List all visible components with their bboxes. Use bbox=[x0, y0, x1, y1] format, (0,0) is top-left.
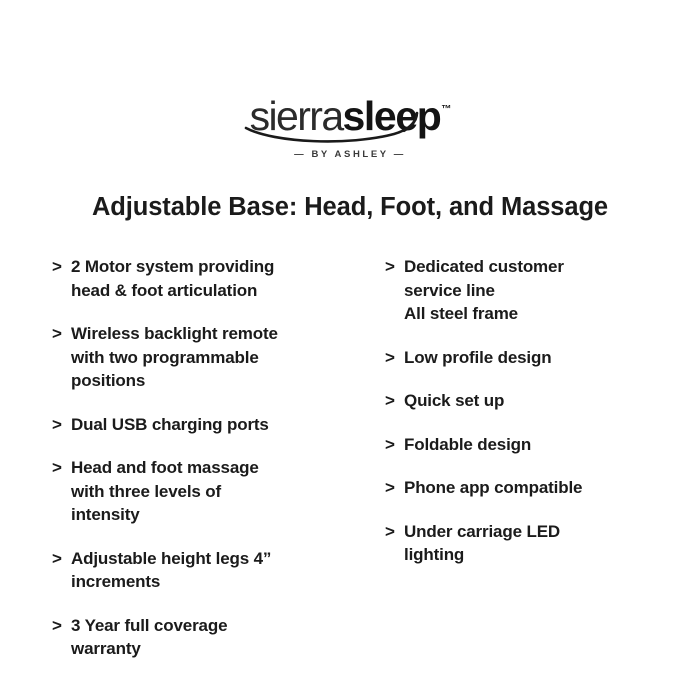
list-item: > Wireless backlight remote with two pro… bbox=[52, 322, 362, 393]
logo-wordmark: sierrasleep™ bbox=[250, 96, 451, 137]
chevron-right-icon: > bbox=[385, 346, 404, 370]
feature-line: Quick set up bbox=[404, 389, 685, 413]
chevron-right-icon: > bbox=[52, 255, 71, 279]
logo-tagline: — BY ASHLEY — bbox=[0, 149, 700, 160]
feature-line: head & foot articulation bbox=[71, 279, 362, 303]
list-item: > Adjustable height legs 4” increments bbox=[52, 547, 362, 594]
feature-text: 3 Year full coverage warranty bbox=[71, 614, 362, 661]
feature-line: Phone app compatible bbox=[404, 476, 685, 500]
feature-line: with two programmable bbox=[71, 346, 362, 370]
list-item: > Low profile design bbox=[385, 346, 685, 370]
product-feature-sheet: sierrasleep™ — BY ASHLEY — Adjustable Ba… bbox=[0, 0, 700, 700]
feature-line: intensity bbox=[71, 503, 362, 527]
feature-line: lighting bbox=[404, 543, 685, 567]
feature-line: Low profile design bbox=[404, 346, 685, 370]
feature-line: increments bbox=[71, 570, 362, 594]
chevron-right-icon: > bbox=[52, 547, 71, 571]
feature-line: service line bbox=[404, 279, 685, 303]
feature-text: Dedicated customer service line All stee… bbox=[404, 255, 685, 326]
feature-line: 2 Motor system providing bbox=[71, 255, 362, 279]
feature-text: Quick set up bbox=[404, 389, 685, 413]
feature-column-right: > Dedicated customer service line All st… bbox=[385, 255, 685, 587]
chevron-right-icon: > bbox=[385, 476, 404, 500]
feature-text: Under carriage LED lighting bbox=[404, 520, 685, 567]
chevron-right-icon: > bbox=[52, 456, 71, 480]
feature-line: positions bbox=[71, 369, 362, 393]
brand-logo: sierrasleep™ — BY ASHLEY — bbox=[0, 96, 700, 160]
feature-column-left: > 2 Motor system providing head & foot a… bbox=[52, 255, 362, 681]
list-item: > Foldable design bbox=[385, 433, 685, 457]
feature-line: Dual USB charging ports bbox=[71, 413, 362, 437]
feature-text: Low profile design bbox=[404, 346, 685, 370]
chevron-right-icon: > bbox=[52, 614, 71, 638]
list-item: > Under carriage LED lighting bbox=[385, 520, 685, 567]
feature-text: Foldable design bbox=[404, 433, 685, 457]
feature-columns: > 2 Motor system providing head & foot a… bbox=[0, 255, 700, 685]
feature-line: with three levels of bbox=[71, 480, 362, 504]
feature-line: Under carriage LED bbox=[404, 520, 685, 544]
chevron-right-icon: > bbox=[385, 389, 404, 413]
feature-text: Wireless backlight remote with two progr… bbox=[71, 322, 362, 393]
list-item: > Quick set up bbox=[385, 389, 685, 413]
list-item: > Dual USB charging ports bbox=[52, 413, 362, 437]
trademark-icon: ™ bbox=[441, 104, 451, 115]
list-item: > 2 Motor system providing head & foot a… bbox=[52, 255, 362, 302]
feature-line: Wireless backlight remote bbox=[71, 322, 362, 346]
feature-line: Dedicated customer bbox=[404, 255, 685, 279]
feature-text: Head and foot massage with three levels … bbox=[71, 456, 362, 527]
list-item: > Head and foot massage with three level… bbox=[52, 456, 362, 527]
chevron-right-icon: > bbox=[52, 322, 71, 346]
feature-text: Adjustable height legs 4” increments bbox=[71, 547, 362, 594]
feature-line: warranty bbox=[71, 637, 362, 661]
list-item: > Phone app compatible bbox=[385, 476, 685, 500]
feature-line: All steel frame bbox=[404, 302, 685, 326]
feature-line: Foldable design bbox=[404, 433, 685, 457]
list-item: > Dedicated customer service line All st… bbox=[385, 255, 685, 326]
logo-word-sleep: sleep bbox=[343, 93, 441, 139]
list-item: > 3 Year full coverage warranty bbox=[52, 614, 362, 661]
page-title: Adjustable Base: Head, Foot, and Massage bbox=[0, 193, 700, 222]
feature-line: Head and foot massage bbox=[71, 456, 362, 480]
chevron-right-icon: > bbox=[385, 433, 404, 457]
logo-word-sierra: sierra bbox=[250, 93, 343, 139]
chevron-right-icon: > bbox=[52, 413, 71, 437]
chevron-right-icon: > bbox=[385, 520, 404, 544]
feature-text: Dual USB charging ports bbox=[71, 413, 362, 437]
feature-text: Phone app compatible bbox=[404, 476, 685, 500]
feature-line: 3 Year full coverage bbox=[71, 614, 362, 638]
feature-line: Adjustable height legs 4” bbox=[71, 547, 362, 571]
chevron-right-icon: > bbox=[385, 255, 404, 279]
feature-text: 2 Motor system providing head & foot art… bbox=[71, 255, 362, 302]
